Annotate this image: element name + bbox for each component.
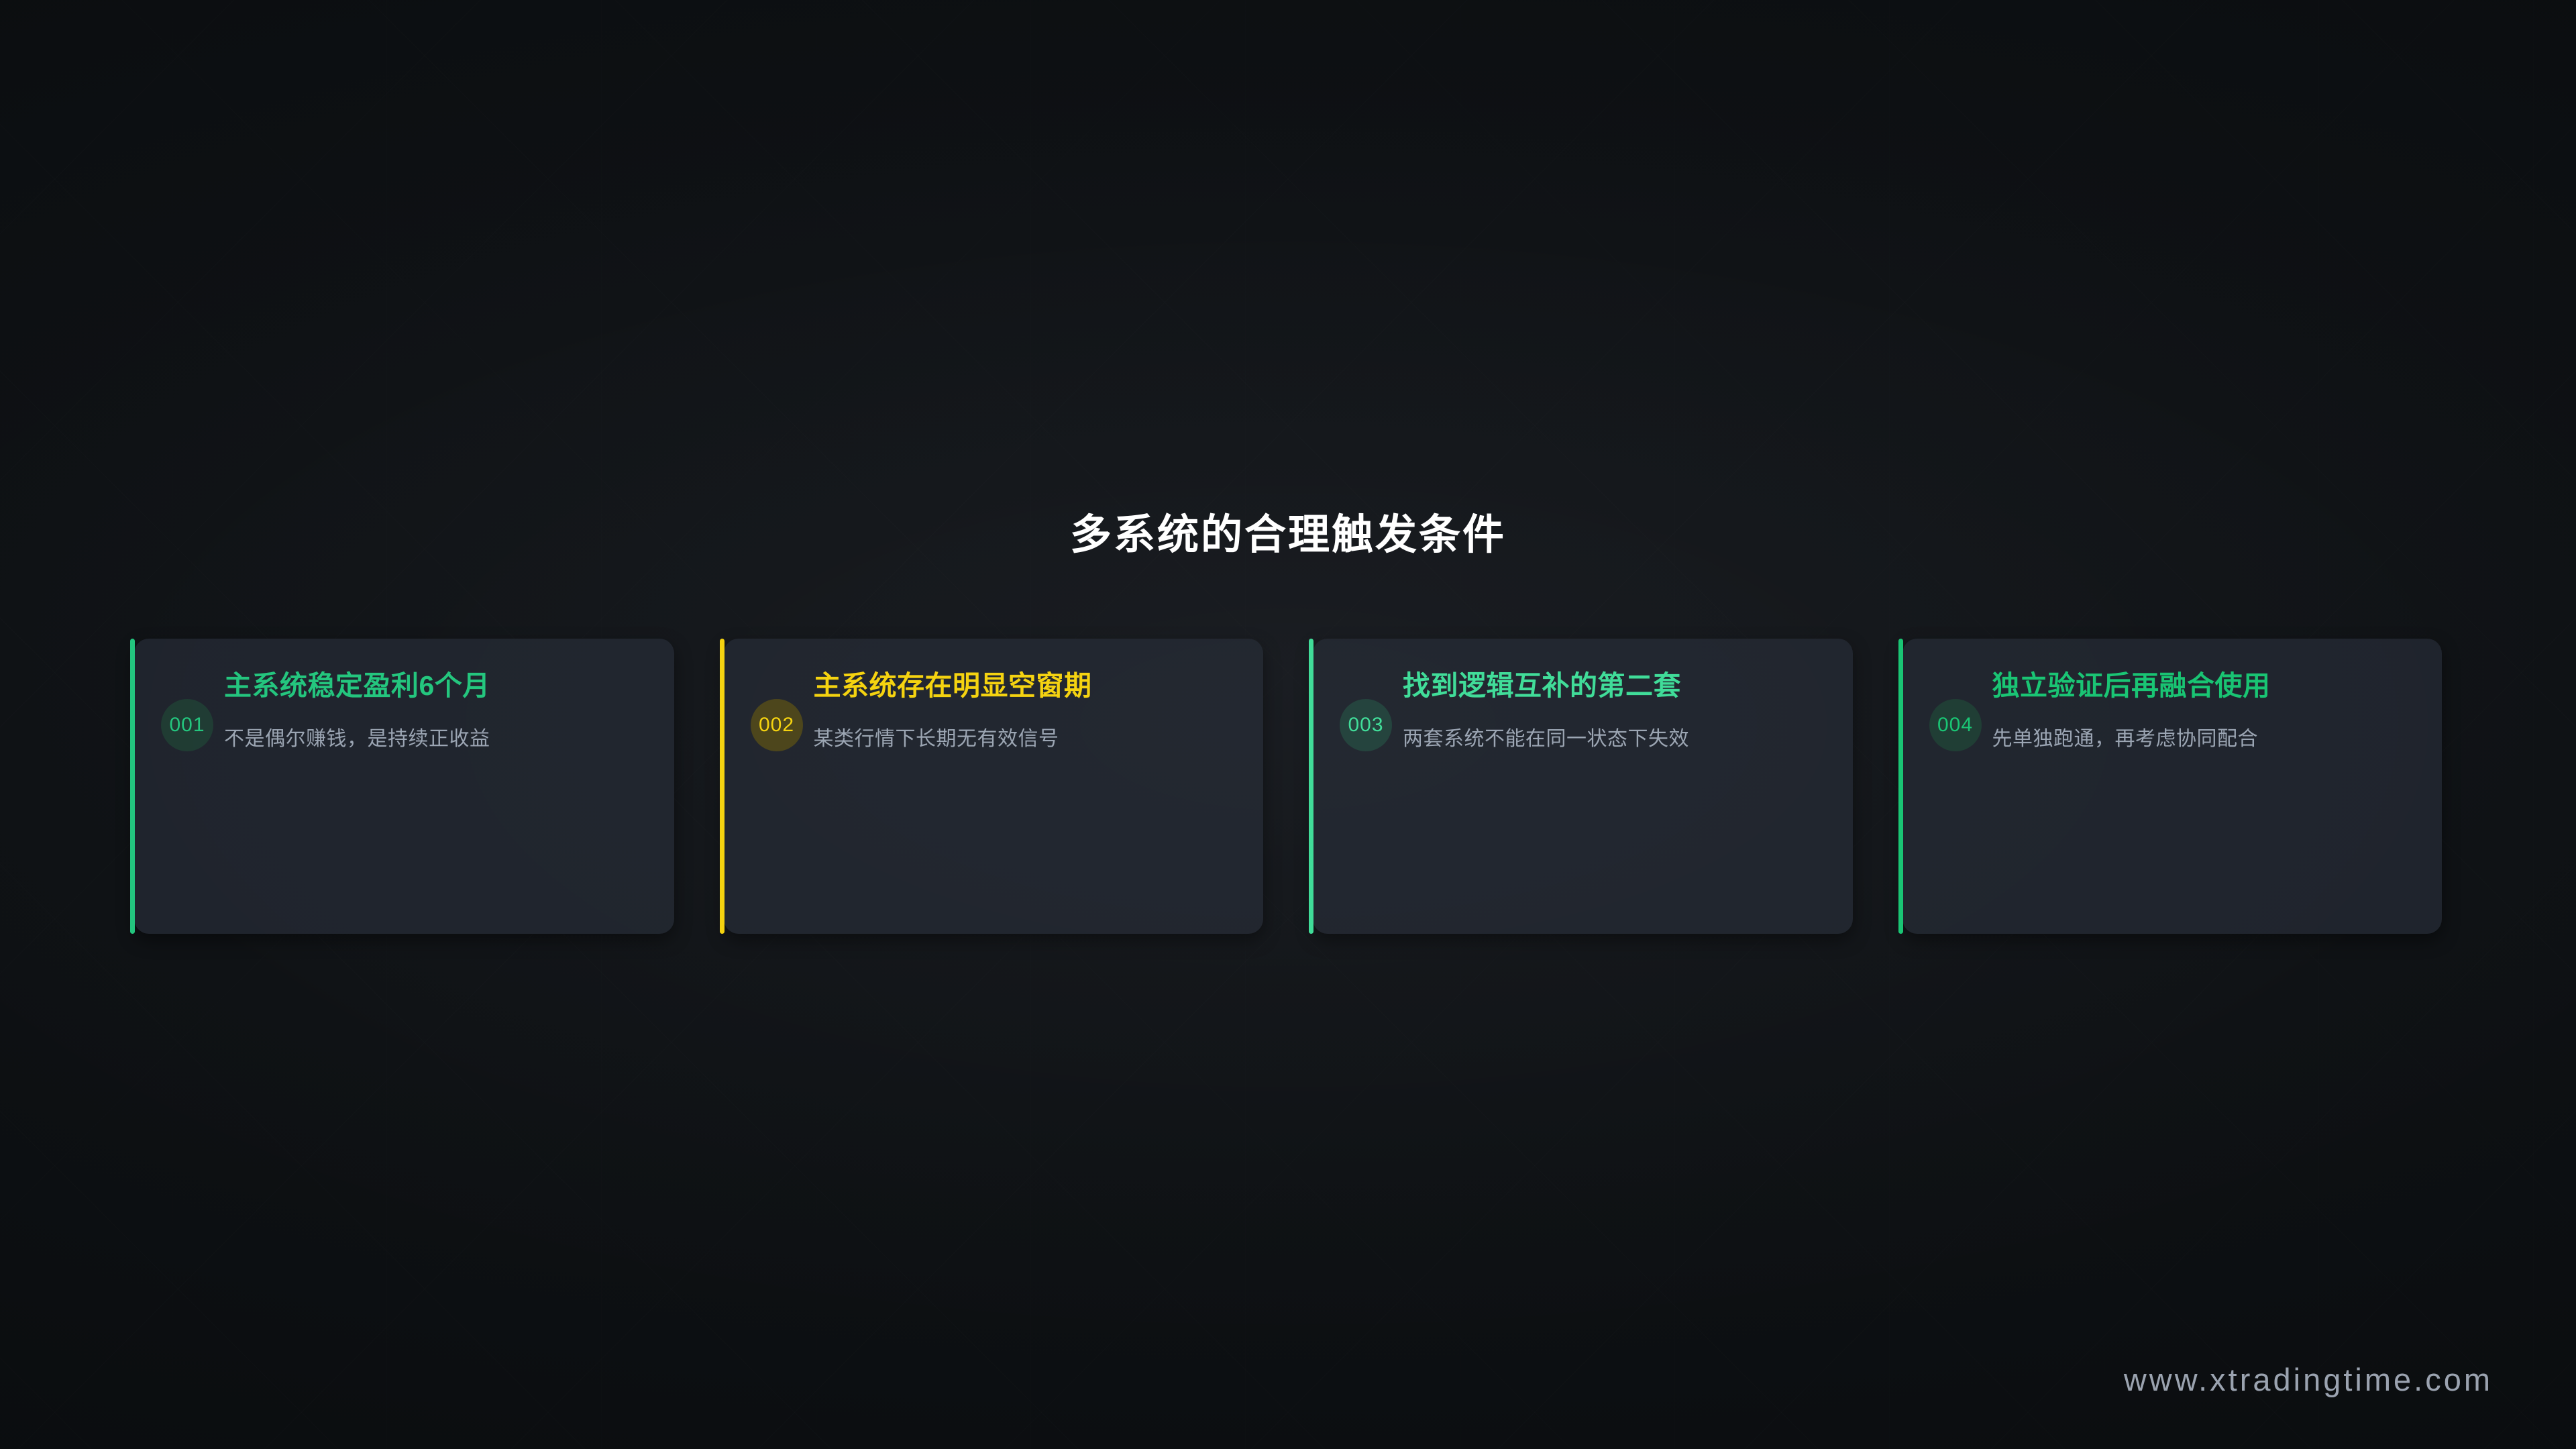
condition-card-003[interactable]: 003 找到逻辑互补的第二套 两套系统不能在同一状态下失效 [1313, 639, 1853, 934]
accent-bar-icon [720, 639, 724, 934]
card-number-label: 003 [1348, 714, 1383, 737]
card-content: 003 找到逻辑互补的第二套 两套系统不能在同一状态下失效 [1375, 668, 1818, 907]
card-description: 某类行情下长期无有效信号 [814, 724, 1229, 755]
card-number-label: 002 [759, 714, 794, 737]
card-title: 找到逻辑互补的第二套 [1403, 668, 1818, 704]
card-description: 两套系统不能在同一状态下失效 [1403, 724, 1818, 755]
condition-card-004[interactable]: 004 独立验证后再融合使用 先单独跑通，再考虑协同配合 [1902, 639, 2443, 934]
condition-card-row: 001 主系统稳定盈利6个月 不是偶尔赚钱，是持续正收益 002 主系统存在明显… [134, 639, 2442, 934]
card-number-badge: 003 [1340, 699, 1392, 751]
slide-canvas: 多系统的合理触发条件 001 主系统稳定盈利6个月 不是偶尔赚钱，是持续正收益 … [0, 0, 2576, 1449]
card-title: 主系统存在明显空窗期 [814, 668, 1229, 704]
accent-bar-icon [130, 639, 135, 934]
card-title: 主系统稳定盈利6个月 [224, 668, 639, 704]
card-number-badge: 004 [1929, 699, 1982, 751]
page-title: 多系统的合理触发条件 [0, 511, 2576, 559]
card-content: 001 主系统稳定盈利6个月 不是偶尔赚钱，是持续正收益 [196, 668, 639, 907]
card-content: 002 主系统存在明显空窗期 某类行情下长期无有效信号 [786, 668, 1229, 907]
accent-bar-icon [1898, 639, 1903, 934]
accent-bar-icon [1309, 639, 1313, 934]
card-number-label: 004 [1937, 714, 1973, 737]
card-number-label: 001 [169, 714, 205, 737]
condition-card-001[interactable]: 001 主系统稳定盈利6个月 不是偶尔赚钱，是持续正收益 [134, 639, 674, 934]
card-content: 004 独立验证后再融合使用 先单独跑通，再考虑协同配合 [1964, 668, 2408, 907]
site-watermark: www.xtradingtime.com [2124, 1361, 2493, 1398]
card-description: 先单独跑通，再考虑协同配合 [1992, 724, 2408, 755]
card-number-badge: 002 [751, 699, 803, 751]
card-title: 独立验证后再融合使用 [1992, 668, 2408, 704]
condition-card-002[interactable]: 002 主系统存在明显空窗期 某类行情下长期无有效信号 [724, 639, 1264, 934]
card-number-badge: 001 [161, 699, 213, 751]
card-description: 不是偶尔赚钱，是持续正收益 [224, 724, 639, 755]
